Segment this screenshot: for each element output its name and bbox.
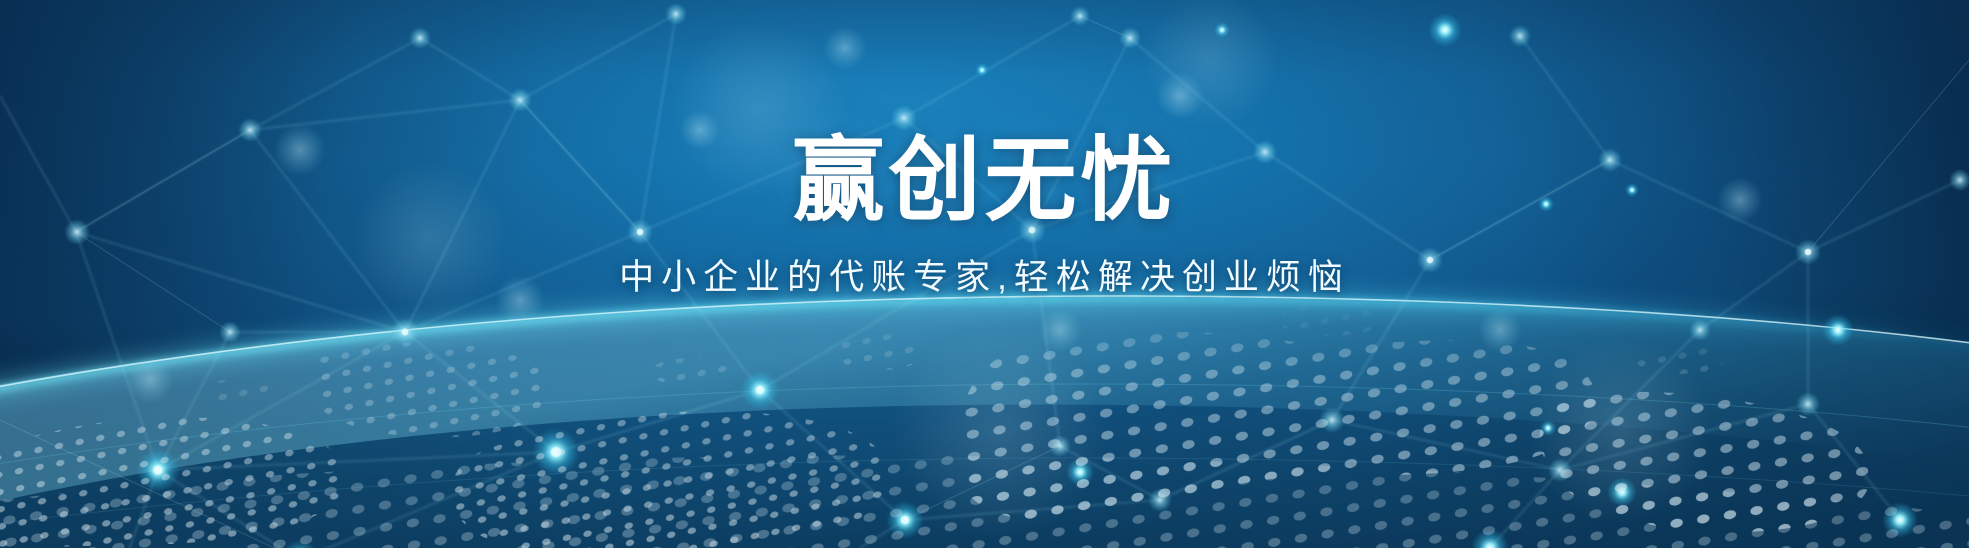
hero-banner: 赢创无忧 中小企业的代账专家,轻松解决创业烦恼: [0, 0, 1969, 548]
bokeh-highlights: [0, 0, 1969, 548]
